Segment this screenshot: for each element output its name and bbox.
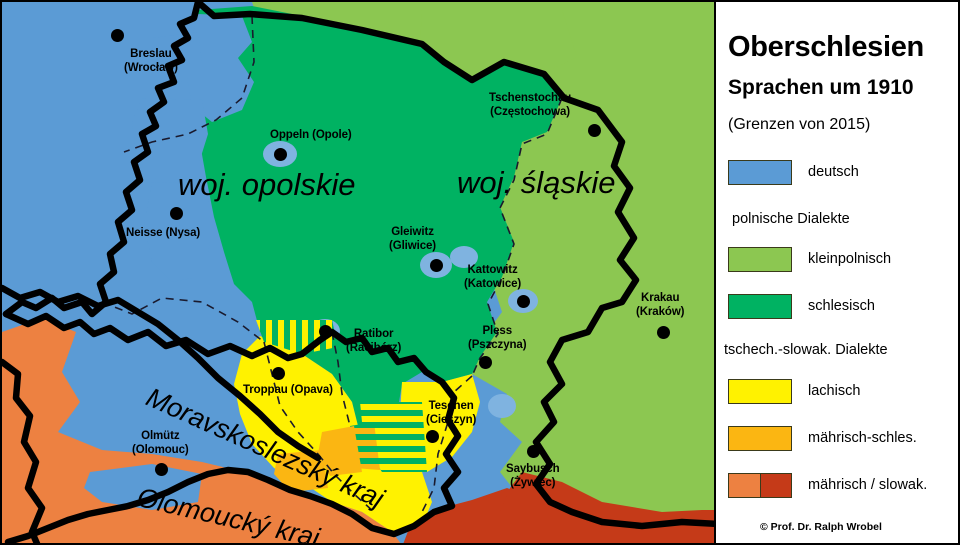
map-panel: Breslau(Wrocław)Oppeln (Opole)Tschenstoc… xyxy=(0,0,716,545)
legend-panel: Oberschlesien Sprachen um 1910 (Grenzen … xyxy=(716,0,960,545)
city-dot-kattowitz xyxy=(517,295,530,308)
legend-group-polnische-dialekte: polnische Dialekte xyxy=(732,211,850,227)
legend-swatch-kleinpolnisch xyxy=(728,247,792,272)
legend-swatch-slowak-half xyxy=(761,474,792,497)
city-dot-breslau xyxy=(111,29,124,42)
city-dot-ratibor xyxy=(319,325,332,338)
legend-swatch-schlesisch xyxy=(728,294,792,319)
legend-title: Oberschlesien xyxy=(728,31,924,64)
legend-swatch-maehrisch-slowak xyxy=(728,473,792,498)
legend-note: (Grenzen von 2015) xyxy=(728,116,870,134)
map-graphic xyxy=(2,2,716,545)
city-dot-troppau xyxy=(272,367,285,380)
legend-group-tschech-slowak: tschech.-slowak. Dialekte xyxy=(724,342,888,358)
city-dot-gleiwitz xyxy=(430,259,443,272)
city-dot-neisse xyxy=(170,207,183,220)
legend-label-lachisch: lachisch xyxy=(808,383,860,399)
city-dot-oppeln xyxy=(274,148,287,161)
city-dot-teschen xyxy=(426,430,439,443)
legend-label-maehrisch-slowak: mährisch / slowak. xyxy=(808,477,927,493)
area-deutsch-dot-bielitz xyxy=(488,394,516,418)
city-dot-pless xyxy=(479,356,492,369)
area-deutsch-dot-gleiwitz2 xyxy=(450,246,478,268)
legend-label-maehrisch-schles: mährisch-schles. xyxy=(808,430,917,446)
copyright-text: © Prof. Dr. Ralph Wrobel xyxy=(760,521,882,533)
legend-label-kleinpolnisch: kleinpolnisch xyxy=(808,251,891,267)
legend-swatch-maehrisch-half xyxy=(729,474,761,497)
city-dot-tschenstochau xyxy=(588,124,601,137)
legend-label-schlesisch: schlesisch xyxy=(808,298,875,314)
city-dot-olmuetz xyxy=(155,463,168,476)
legend-swatch-lachisch xyxy=(728,379,792,404)
legend-swatch-maehrisch-schles xyxy=(728,426,792,451)
city-dot-saybusch xyxy=(527,445,540,458)
city-dot-krakau xyxy=(657,326,670,339)
legend-swatch-deutsch xyxy=(728,160,792,185)
map-figure: Breslau(Wrocław)Oppeln (Opole)Tschenstoc… xyxy=(0,0,960,545)
legend-label-deutsch: deutsch xyxy=(808,164,859,180)
legend-subtitle: Sprachen um 1910 xyxy=(728,76,914,100)
